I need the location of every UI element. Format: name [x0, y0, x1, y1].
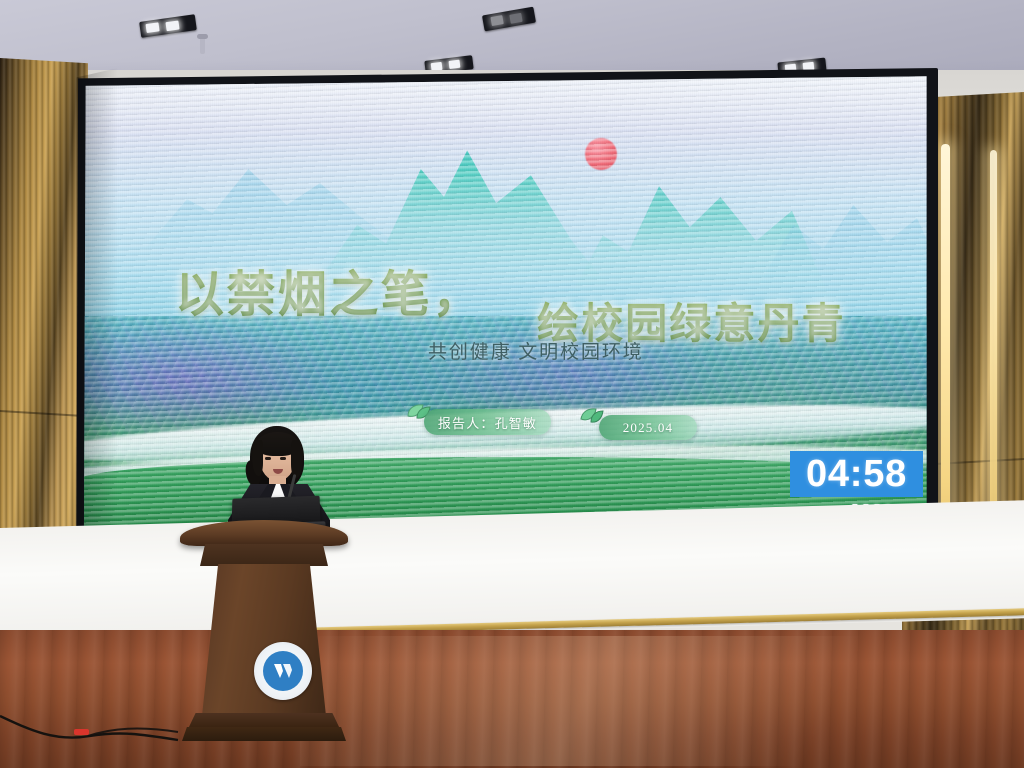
countdown-timer[interactable]: 04:58 — [790, 451, 923, 497]
sprinkler-icon — [200, 36, 205, 54]
hair-side-left — [252, 440, 263, 476]
emblem-inner — [263, 651, 303, 691]
timer-value: 04:58 — [806, 455, 907, 493]
badge-presenter-label: 报告人：孔智敏 — [438, 413, 537, 432]
badge-date: 2025.04 — [599, 415, 697, 440]
lecture-hall-photo: 以禁烟之笔， 绘校园绿意丹青 共创健康 文明校园环境 报告人：孔智敏 2025.… — [0, 0, 1024, 768]
badge-date-label: 2025.04 — [623, 420, 673, 436]
slide-subtitle: 共创健康 文明校园环境 — [428, 337, 644, 364]
sun-icon — [585, 138, 617, 170]
eye-right — [280, 457, 286, 460]
badge-presenter: 报告人：孔智敏 — [424, 409, 551, 435]
podium-base — [188, 713, 340, 729]
podium-foot — [182, 727, 346, 741]
eye-left — [265, 457, 271, 460]
slide-title-line1: 以禁烟之笔， — [175, 255, 484, 326]
podium-top — [180, 520, 348, 546]
podium — [178, 520, 350, 752]
panel-seam — [0, 410, 88, 417]
podium-body — [202, 564, 326, 716]
university-emblem — [254, 642, 312, 700]
podium-neck — [200, 544, 328, 566]
floor-reflection — [300, 636, 1024, 766]
